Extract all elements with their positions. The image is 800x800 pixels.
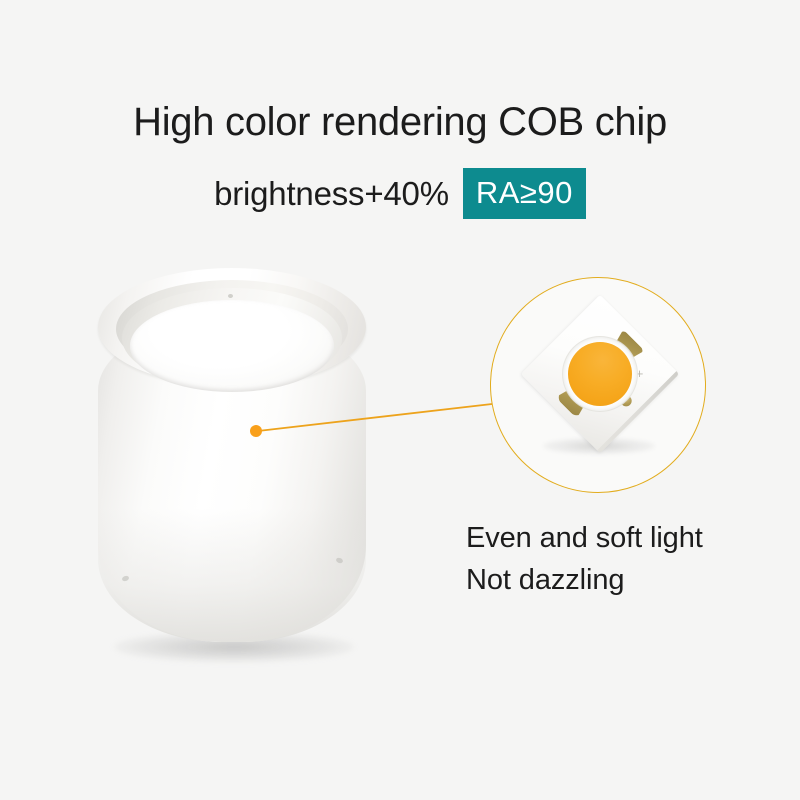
diffuser-edge-highlight [130,300,334,392]
housing-bottom-shading [98,508,366,642]
caption-line-2: Not dazzling [466,560,786,602]
cob-chip: + [521,295,679,453]
subtitle-row: brightness+40% RA≥90 [0,168,800,219]
page-title: High color rendering COB chip [0,100,800,145]
caption-block: Even and soft light Not dazzling [466,518,786,602]
caption-line-1: Even and soft light [466,518,786,560]
product-banner: High color rendering COB chip brightness… [0,0,800,800]
ra-rating-badge: RA≥90 [463,168,586,219]
brightness-text: brightness+40% [214,175,449,213]
rim-moulding-nub [228,294,233,298]
product-image-downlight [78,258,388,668]
callout-anchor-dot [250,425,262,437]
chip-zoom-circle: + [490,277,706,493]
